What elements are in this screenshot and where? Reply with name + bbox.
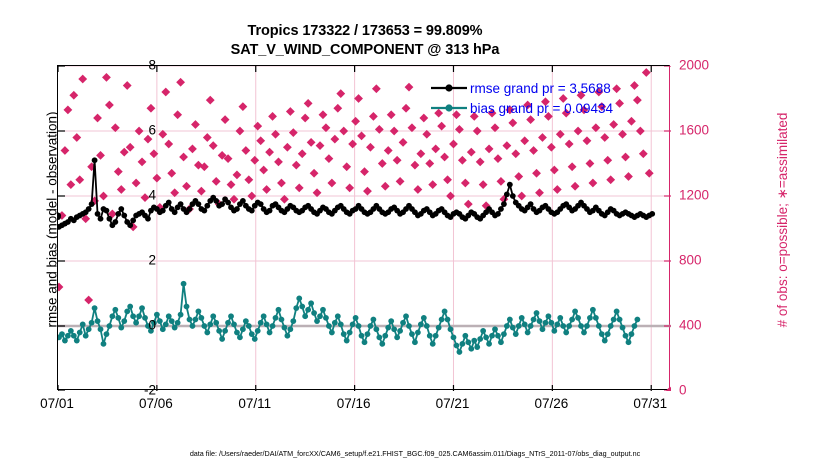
bias-series-marker	[415, 330, 421, 336]
bias-series-marker	[454, 343, 460, 349]
obs-count-marker	[600, 133, 609, 142]
bias-series-marker	[305, 307, 311, 313]
obs-count-marker	[428, 180, 437, 189]
bias-series-marker	[273, 315, 279, 321]
bias-series-marker	[611, 317, 617, 323]
bias-series-marker	[551, 328, 557, 334]
bias-series-marker	[492, 326, 498, 332]
bias-series-marker	[504, 323, 510, 329]
bias-series-marker	[421, 315, 427, 321]
bias-series-marker	[578, 323, 584, 329]
bias-series-marker	[442, 308, 448, 314]
bias-series-marker	[347, 330, 353, 336]
obs-count-marker	[333, 104, 342, 113]
bias-series-marker	[314, 318, 320, 324]
bias-series-marker	[201, 323, 207, 329]
obs-count-marker	[396, 177, 405, 186]
bias-series-marker	[252, 336, 258, 342]
bias-series-marker	[510, 325, 516, 331]
obs-count-marker	[639, 149, 648, 158]
bias-series-marker	[213, 320, 219, 326]
bias-series-marker	[86, 326, 92, 332]
bias-series-marker	[424, 323, 430, 329]
obs-count-marker	[274, 157, 283, 166]
x-tick-label: 07/11	[220, 396, 290, 411]
obs-count-marker	[173, 110, 182, 119]
obs-count-marker	[250, 156, 259, 165]
bias-series-marker	[243, 318, 249, 324]
bias-series-marker	[127, 304, 133, 310]
bias-series-marker	[62, 338, 68, 344]
obs-count-marker	[387, 110, 396, 119]
bias-series-marker	[65, 333, 71, 339]
obs-count-marker	[58, 283, 63, 292]
bias-series-marker	[557, 315, 563, 321]
obs-count-marker	[553, 185, 562, 194]
rmse-series-marker	[187, 206, 193, 212]
obs-count-marker	[494, 154, 503, 163]
rmse-series-marker	[121, 213, 127, 219]
rmse-series-marker	[201, 208, 207, 214]
rmse-series-marker	[166, 200, 172, 206]
obs-count-marker	[336, 89, 345, 98]
obs-count-marker	[126, 143, 135, 152]
obs-count-marker	[390, 127, 399, 136]
bias-series-marker	[184, 304, 190, 310]
x-tick-label: 07/31	[615, 396, 685, 411]
obs-count-marker	[164, 140, 173, 149]
obs-count-marker	[360, 167, 369, 176]
rmse-series-marker	[86, 206, 92, 212]
bias-series-marker	[323, 315, 329, 321]
bias-series-marker	[68, 328, 74, 334]
bias-series-marker	[175, 320, 181, 326]
rmse-series-marker	[115, 211, 121, 217]
rmse-series-marker	[118, 206, 124, 212]
obs-count-marker	[565, 140, 574, 149]
obs-count-marker	[497, 177, 506, 186]
obs-count-marker	[330, 135, 339, 144]
bias-series-marker	[605, 331, 611, 337]
bias-series-marker	[531, 317, 537, 323]
bias-series-marker	[632, 323, 638, 329]
obs-count-marker	[236, 127, 245, 136]
y-tick-label-left: 6	[116, 123, 156, 138]
bias-series-marker	[166, 313, 172, 319]
x-tick-label: 07/06	[121, 396, 191, 411]
title-line-2: SAT_V_WIND_COMPONENT @ 313 hPa	[0, 41, 730, 60]
obs-count-marker	[473, 127, 482, 136]
bias-series-marker	[264, 321, 270, 327]
bias-series-marker	[293, 305, 299, 311]
obs-count-marker	[357, 131, 366, 140]
obs-count-marker	[253, 122, 262, 131]
y-tick-label-right: 1600	[679, 123, 727, 138]
obs-count-marker	[413, 185, 422, 194]
legend-marker-rmse	[430, 81, 468, 95]
obs-count-marker	[416, 149, 425, 158]
bias-series-marker	[572, 308, 578, 314]
bias-series-marker	[596, 323, 602, 329]
obs-count-marker	[574, 127, 583, 136]
obs-count-marker	[241, 146, 250, 155]
obs-count-marker	[298, 149, 307, 158]
obs-count-marker	[437, 122, 446, 131]
obs-count-marker	[93, 114, 102, 123]
rmse-series-marker	[501, 201, 507, 207]
bias-series-marker	[427, 333, 433, 339]
obs-count-marker	[310, 169, 319, 178]
bias-series-marker	[626, 339, 632, 345]
bias-series-marker	[169, 318, 175, 324]
bias-series-marker	[433, 333, 439, 339]
obs-count-marker	[105, 101, 114, 110]
bias-series-marker	[418, 321, 424, 327]
obs-count-marker	[606, 175, 615, 184]
y-tick-label-right: 0	[679, 383, 727, 398]
obs-count-marker	[244, 175, 253, 184]
obs-count-marker	[449, 140, 458, 149]
obs-count-marker	[191, 120, 200, 129]
bias-series-marker	[537, 318, 543, 324]
bias-series-marker	[98, 326, 104, 332]
bias-series-marker	[623, 333, 629, 339]
rmse-series-marker	[267, 208, 273, 214]
bias-series-marker	[575, 315, 581, 321]
bias-series-marker	[459, 341, 465, 347]
bias-series-marker	[590, 307, 596, 313]
bias-series-marker	[157, 318, 163, 324]
obs-count-marker	[645, 169, 654, 178]
rmse-series-marker	[219, 201, 225, 207]
obs-count-marker	[289, 128, 298, 137]
obs-count-marker	[603, 156, 612, 165]
rmse-series-marker	[195, 201, 201, 207]
bias-series-marker	[548, 320, 554, 326]
bias-series-marker	[581, 330, 587, 336]
rmse-series-marker	[510, 193, 516, 199]
bias-series-marker	[379, 341, 385, 347]
bias-series-marker	[172, 325, 178, 331]
bias-series-marker	[471, 338, 477, 344]
obs-count-marker	[197, 187, 206, 196]
bias-series-marker	[216, 328, 222, 334]
rmse-series-marker	[92, 157, 98, 163]
bias-series-marker	[74, 338, 80, 344]
bias-series-marker	[593, 315, 599, 321]
bias-series-marker	[112, 307, 118, 313]
obs-count-marker	[203, 133, 212, 142]
bias-series-marker	[311, 310, 317, 316]
obs-count-marker	[132, 179, 141, 188]
obs-count-marker	[152, 174, 161, 183]
bias-series-marker	[477, 336, 483, 342]
obs-count-marker	[114, 167, 123, 176]
obs-count-marker	[212, 177, 221, 186]
obs-count-marker	[283, 143, 292, 152]
bias-series-marker	[365, 331, 371, 337]
obs-count-marker	[120, 148, 129, 157]
bias-series-marker	[566, 323, 572, 329]
bias-series-marker	[178, 312, 184, 318]
obs-count-marker	[292, 161, 301, 170]
rmse-series-marker	[495, 211, 501, 217]
obs-count-marker	[520, 136, 529, 145]
obs-count-marker	[461, 179, 470, 188]
bias-series-marker	[617, 317, 623, 323]
bias-series-marker	[290, 318, 296, 324]
legend-item-rmse: rmse grand pr = 3.5688	[430, 78, 635, 98]
y-tick-label-right: 1200	[679, 188, 727, 203]
rmse-series-marker	[504, 191, 510, 197]
bias-series-marker	[258, 320, 264, 326]
bias-series-marker	[101, 341, 107, 347]
obs-count-marker	[138, 157, 147, 166]
bias-series-marker	[394, 334, 400, 340]
bias-series-marker	[362, 339, 368, 345]
obs-count-marker	[369, 112, 378, 121]
bias-series-marker	[543, 320, 549, 326]
bias-series-marker	[519, 315, 525, 321]
bias-series-marker	[77, 330, 83, 336]
bias-series-marker	[83, 333, 89, 339]
bias-series-marker	[231, 321, 237, 327]
rmse-series-marker	[240, 198, 246, 204]
bias-series-marker	[237, 334, 243, 340]
rmse-series-marker	[104, 208, 110, 214]
obs-count-marker	[476, 157, 485, 166]
obs-count-marker	[431, 144, 440, 153]
bias-series-marker	[495, 333, 501, 339]
rmse-series-marker	[204, 203, 210, 209]
obs-count-marker	[586, 159, 595, 168]
obs-count-marker	[304, 99, 313, 108]
obs-count-marker	[399, 138, 408, 147]
bias-series-marker	[71, 333, 77, 339]
bias-series-marker	[344, 338, 350, 344]
bias-series-marker	[436, 325, 442, 331]
bias-series-marker	[462, 333, 468, 339]
obs-count-marker	[147, 104, 156, 113]
bias-series-marker	[468, 346, 474, 352]
obs-count-marker	[339, 127, 348, 136]
rmse-series-marker	[98, 216, 104, 222]
bias-series-marker	[560, 323, 566, 329]
chart-legend: rmse grand pr = 3.5688 bias grand pr = 0…	[430, 78, 635, 119]
bias-series-marker	[563, 330, 569, 336]
rmse-series-marker	[127, 222, 133, 228]
bias-series-marker	[501, 331, 507, 337]
obs-count-marker	[550, 166, 559, 175]
bias-series-marker	[296, 295, 302, 301]
bias-series-marker	[109, 313, 115, 319]
bias-series-marker	[89, 320, 95, 326]
bias-series-marker	[457, 349, 463, 355]
bias-series-marker	[540, 326, 546, 332]
bias-series-marker	[388, 318, 394, 324]
obs-count-marker	[277, 179, 286, 188]
obs-count-marker	[206, 96, 215, 105]
bias-series-marker	[267, 330, 273, 336]
bias-series-marker	[59, 331, 65, 337]
bias-series-marker	[516, 323, 522, 329]
obs-count-marker	[609, 120, 618, 129]
y-tick-label-left: 2	[116, 253, 156, 268]
legend-label-rmse: rmse grand pr = 3.5688	[470, 81, 611, 96]
x-tick-label: 07/26	[516, 396, 586, 411]
bias-series-marker	[317, 313, 323, 319]
bias-series-marker	[445, 317, 451, 323]
obs-count-marker	[167, 169, 176, 178]
obs-count-marker	[375, 125, 384, 134]
obs-count-marker	[363, 187, 372, 196]
bias-series-marker	[204, 330, 210, 336]
x-tick-label: 07/01	[22, 396, 92, 411]
obs-count-marker	[221, 115, 230, 124]
bias-series-marker	[534, 310, 540, 316]
y-axis-label-right: # of obs: o=possible; ∗=assimilated	[775, 55, 791, 385]
rmse-series-marker	[213, 198, 219, 204]
bias-series-marker	[522, 321, 528, 327]
bias-series-marker	[240, 326, 246, 332]
x-tick-label: 07/16	[319, 396, 389, 411]
obs-count-marker	[286, 107, 295, 116]
bias-series-marker	[486, 341, 492, 347]
bias-series-marker	[234, 330, 240, 336]
obs-count-marker	[411, 161, 420, 170]
bias-series-marker	[356, 323, 362, 329]
bias-series-marker	[187, 317, 193, 323]
bias-series-marker	[614, 308, 620, 314]
bias-series-marker	[249, 331, 255, 337]
bias-series-marker	[308, 300, 314, 306]
bias-series-marker	[284, 333, 290, 339]
bias-series-marker	[373, 326, 379, 332]
bias-series-marker	[397, 328, 403, 334]
bias-series-marker	[368, 323, 374, 329]
bias-series-marker	[403, 313, 409, 319]
rmse-series-marker	[649, 211, 655, 217]
obs-count-marker	[233, 170, 242, 179]
bias-series-marker	[439, 317, 445, 323]
obs-count-marker	[262, 185, 271, 194]
bias-series-marker	[525, 330, 531, 336]
bias-series-marker	[391, 326, 397, 332]
obs-count-marker	[366, 143, 375, 152]
obs-count-marker	[316, 141, 325, 150]
rmse-series-marker	[145, 216, 151, 222]
x-tick-label: 07/21	[417, 396, 487, 411]
bias-series-marker	[104, 331, 110, 337]
obs-count-marker	[295, 183, 304, 192]
bias-series-marker	[335, 313, 341, 319]
obs-count-marker	[188, 144, 197, 153]
bias-series-marker	[326, 323, 332, 329]
bias-series-marker	[338, 321, 344, 327]
obs-count-marker	[381, 182, 390, 191]
obs-count-marker	[621, 153, 630, 162]
obs-count-marker	[384, 146, 393, 155]
obs-count-marker	[307, 138, 316, 147]
bias-series-marker	[270, 323, 276, 329]
bias-series-marker	[629, 331, 635, 337]
bias-series-marker	[634, 317, 640, 323]
bias-series-marker	[228, 313, 234, 319]
bias-series-marker	[584, 323, 590, 329]
bias-series-marker	[276, 307, 282, 313]
rmse-series-marker	[225, 200, 231, 206]
rmse-series-marker	[107, 216, 113, 222]
obs-count-marker	[123, 81, 132, 90]
bias-series-marker	[513, 331, 519, 337]
bias-series-marker	[193, 317, 199, 323]
bias-series-marker	[376, 334, 382, 340]
bias-series-marker	[350, 321, 356, 327]
bias-series-marker	[385, 325, 391, 331]
bias-series-marker	[329, 330, 335, 336]
rmse-series-marker	[258, 201, 264, 207]
obs-count-marker	[227, 180, 236, 189]
obs-count-marker	[247, 192, 256, 201]
obs-count-marker	[502, 141, 511, 150]
bias-series-marker	[546, 313, 552, 319]
bias-series-marker	[92, 305, 98, 311]
bias-series-marker	[554, 321, 560, 327]
obs-count-marker	[583, 136, 592, 145]
obs-count-marker	[666, 387, 671, 391]
bias-series-marker	[139, 305, 145, 311]
bias-series-marker	[190, 323, 196, 329]
bias-series-marker	[599, 331, 605, 337]
obs-count-marker	[259, 166, 268, 175]
bias-series-marker	[80, 321, 86, 327]
legend-marker-bias	[430, 101, 468, 115]
obs-count-marker	[238, 102, 247, 111]
y-tick-label-left: 0	[116, 318, 156, 333]
obs-count-marker	[84, 296, 93, 305]
chart-title: Tropics 173322 / 173653 = 99.809% SAT_V_…	[0, 22, 730, 60]
obs-count-marker	[268, 112, 277, 121]
bias-series-marker	[302, 313, 308, 319]
y-tick-label-left: 8	[116, 58, 156, 73]
bias-series-marker	[225, 320, 231, 326]
obs-count-marker	[209, 141, 218, 150]
obs-count-marker	[161, 88, 170, 97]
bias-series-marker	[489, 333, 495, 339]
bias-series-marker	[480, 328, 486, 334]
bias-series-marker	[359, 333, 365, 339]
obs-count-marker	[348, 140, 357, 149]
obs-count-marker	[464, 200, 473, 209]
bias-series-marker	[370, 317, 376, 323]
data-file-footer: data file: /Users/raeder/DAI/ATM_forcXX/…	[0, 449, 830, 458]
obs-count-marker	[319, 110, 328, 119]
rmse-series-marker	[178, 201, 184, 207]
obs-count-marker	[624, 172, 633, 181]
obs-count-marker	[455, 125, 464, 134]
bias-series-marker	[198, 315, 204, 321]
bias-series-marker	[409, 331, 415, 337]
obs-count-marker	[66, 180, 75, 189]
bias-series-marker	[195, 308, 201, 314]
rmse-series-marker	[498, 206, 504, 212]
obs-count-marker	[78, 75, 87, 84]
bias-series-marker	[430, 341, 436, 347]
bias-series-marker	[163, 321, 169, 327]
bias-series-marker	[160, 326, 166, 332]
bias-series-marker	[474, 344, 480, 350]
bias-series-marker	[406, 323, 412, 329]
